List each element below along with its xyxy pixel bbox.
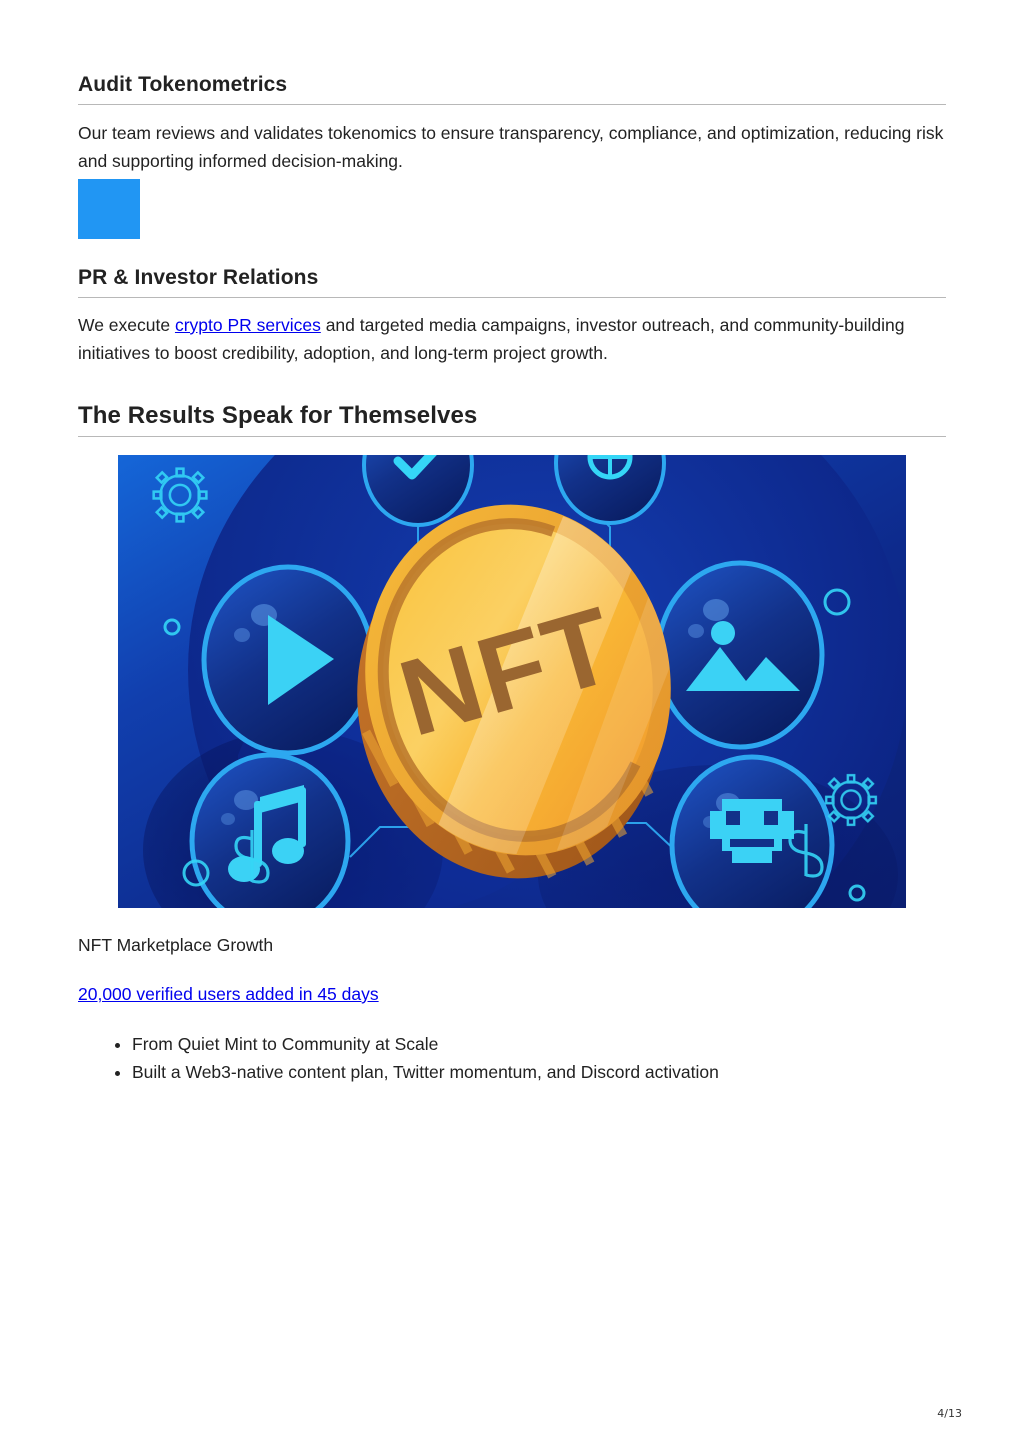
heading-divider-2 xyxy=(78,297,946,298)
nft-illustration: NFT xyxy=(118,455,906,908)
list-item: Built a Web3-native content plan, Twitte… xyxy=(132,1059,1000,1085)
list-item: From Quiet Mint to Community at Scale xyxy=(132,1031,1000,1057)
heading-audit-tokenometrics: Audit Tokenometrics xyxy=(78,72,946,98)
blue-placeholder-block xyxy=(78,179,140,239)
play-icon-node xyxy=(204,567,372,753)
paragraph-pr-prefix: We execute xyxy=(78,315,175,335)
heading-pr-investor-relations: PR & Investor Relations xyxy=(78,265,946,291)
heading-the-results: The Results Speak for Themselves xyxy=(78,401,946,430)
link-crypto-pr-services[interactable]: crypto PR services xyxy=(175,315,321,335)
paragraph-pr-investor-relations: We execute crypto PR services and target… xyxy=(78,311,948,367)
page-number: 4/13 xyxy=(937,1407,962,1420)
pixel-face-icon-node xyxy=(672,757,832,908)
heading-divider-3 xyxy=(78,436,946,437)
music-note-icon-node xyxy=(192,755,348,908)
paragraph-audit-tokenometrics: Our team reviews and validates tokenomic… xyxy=(78,119,948,175)
document-page: Audit Tokenometrics Our team reviews and… xyxy=(0,0,1024,1448)
case-study-bullet-list: From Quiet Mint to Community at Scale Bu… xyxy=(78,1031,1000,1087)
link-verified-users-result[interactable]: 20,000 verified users added in 45 days xyxy=(78,984,379,1004)
picture-icon-node xyxy=(658,563,822,747)
case-study-result: 20,000 verified users added in 45 days xyxy=(78,981,946,1007)
heading-divider-1 xyxy=(78,104,946,105)
case-study-caption: NFT Marketplace Growth xyxy=(78,932,946,958)
